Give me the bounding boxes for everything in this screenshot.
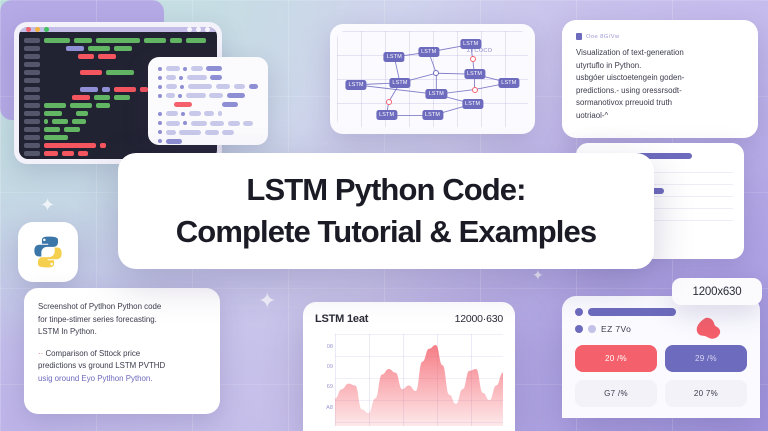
stat-button[interactable]: 20 /% [575,345,657,372]
snippet-line [158,84,258,89]
og-image-canvas: ✦ ✦ ✦ ΣTCOCO LSTMLSTMLSTMLSTMLSTMLSTMLST… [0,0,768,431]
code-token [114,46,132,51]
code-snippet-card [148,57,268,145]
document-icon [576,33,582,40]
code-token [114,95,130,100]
code-token [64,127,80,132]
snippet-token [186,93,206,98]
diagram-node: LSTM [376,110,397,120]
snippet-token [166,111,178,116]
code-token [96,103,110,108]
legend-dot-icon [588,325,596,333]
snippet-token [210,121,224,126]
snippet-token [187,75,207,80]
sparkle-icon: ✦ [258,290,276,312]
snippet-token [234,84,245,89]
diagram-open-node [472,87,478,93]
code-token [44,119,48,124]
snippet-line [158,102,258,107]
chart-y-tick: 69 [327,384,333,390]
code-line [24,46,212,51]
diagram-open-node [470,56,476,62]
chart-plot-area [335,334,503,426]
code-token [88,46,110,51]
chart-y-tick: A8 [326,405,333,411]
diagram-node: LSTM [418,47,439,57]
body-line: usig oround Eyo Pytlhon Python. [38,373,206,386]
bullet-icon [183,121,187,125]
diagram-node: LSTM [460,39,481,49]
snippet-token [166,75,176,80]
line-number-bar [24,87,40,92]
code-token [44,111,62,116]
diagram-node: LSTM [462,99,483,109]
code-token [66,46,84,51]
diagram-node: LSTM [426,89,447,99]
blob-decoration-icon [694,317,724,343]
body-line: usbgóer uisctoetengein goden- [576,72,744,85]
chart-title: LSTM 1eat [315,313,368,325]
snippet-token [243,121,253,126]
code-token [102,87,110,92]
line-number-bar [24,103,40,108]
snippet-line [158,121,258,126]
lstm-network-diagram-card: ΣTCOCO LSTMLSTMLSTMLSTMLSTMLSTMLSTMLSTML… [330,24,535,134]
title-card: LSTM Python Code: Complete Tutorial & Ex… [118,153,654,269]
diagram-node: LSTM [464,69,485,79]
snippet-token [218,111,222,116]
code-token [80,87,98,92]
kicker-text: Ooe 8G/Vw [586,34,620,40]
bullet-icon [158,130,162,134]
snippet-token [227,93,245,98]
code-token [62,151,74,156]
bullet-icon [158,85,162,89]
code-token [72,119,86,124]
code-token [78,54,94,59]
snippet-token [206,66,222,71]
bullet-icon [180,85,184,89]
body-line: for tinpe-stimer series forecasting. [38,314,206,327]
code-token [100,143,106,148]
code-token [98,54,116,59]
snippet-token [166,139,182,144]
stat-button[interactable]: 29 /% [665,345,747,372]
line-number-bar [24,119,40,124]
legend-dot-icon [575,325,583,333]
snippet-token [204,111,214,116]
snippet-token [222,102,238,107]
chart-meta: 12000·630 [455,313,503,325]
code-token [72,95,90,100]
snippet-line [158,139,258,144]
editor-menu-dots [187,27,210,32]
sparkle-icon: ✦ [40,196,55,214]
snippet-token [209,93,223,98]
diagram-plot: ΣTCOCO LSTMLSTMLSTMLSTMLSTMLSTMLSTMLSTML… [337,31,528,127]
body-line: LSTM In Python. [38,326,206,339]
body-line: Screenshot of Pytlhon Python code [38,301,206,314]
line-number-bar [24,78,40,83]
stat-button[interactable]: G7 /% [575,380,657,407]
code-token [44,151,58,156]
text-card-topright: Ooe 8G/Vw Visualization of text-generati… [562,20,758,138]
snippet-token [205,130,219,135]
body-line: uotriaol-^ [576,110,744,123]
bullet-icon [179,76,183,80]
code-token [44,127,60,132]
code-token [144,38,166,43]
code-token [96,38,140,43]
bullet-icon [158,94,162,98]
bullet-icon: ·· [38,349,43,358]
python-icon [29,233,67,271]
line-number-bar [24,143,40,148]
chart-y-axis: 080969A8 [315,334,335,426]
snippet-line [158,66,258,71]
bullet-icon [158,67,162,71]
snippet-token [166,84,177,89]
snippet-token [188,84,212,89]
line-number-bar [24,38,40,43]
line-number-bar [24,46,40,51]
chart-y-tick: 08 [327,344,333,350]
stats-title-row [575,308,747,316]
snippet-token [191,121,207,126]
dimension-badge: 1200x630 [672,278,762,305]
snippet-token [210,75,222,80]
chart-card: LSTM 1eat 12000·630 080969A8 [303,302,515,431]
status-dot-icon [575,308,583,316]
stats-card: EZ 7Vo 20 /%29 /%G7 /%20 7% [562,296,760,418]
code-token [94,95,110,100]
line-number-bar [24,95,40,100]
bullet-icon [158,112,162,116]
stat-button[interactable]: 20 7% [665,380,747,407]
line-number-bar [24,135,40,140]
code-token [76,111,88,116]
code-token [106,70,134,75]
snippet-line [158,130,258,135]
code-token [44,38,70,43]
text-card-bottomleft: Screenshot of Pytlhon Python code for ti… [24,288,220,414]
code-token [78,151,88,156]
code-token [44,143,96,148]
snippet-token [166,66,180,71]
chart-area-series [335,334,503,426]
code-token [52,119,68,124]
code-token [74,38,92,43]
code-token [44,103,66,108]
snippet-token [166,130,176,135]
snippet-token [228,121,240,126]
line-number-bar [24,151,40,156]
snippet-token [249,84,258,89]
code-line [24,38,212,43]
line-number-bar [24,54,40,59]
snippet-token [216,84,231,89]
line-number-bar [24,127,40,132]
stats-button-grid: 20 /%29 /%G7 /%20 7% [575,345,747,407]
snippet-token [189,111,201,116]
python-logo-card [18,222,78,282]
legend-label: EZ 7Vo [601,324,631,334]
body-line: predictions.- using oressrsodt- [576,85,744,98]
body-line: ·· Comparison of Sttock price [38,348,206,361]
bullet-icon [158,121,162,125]
diagram-node: LSTM [498,78,519,88]
code-token [140,87,148,92]
title-placeholder-bar [588,308,676,316]
snippet-token [166,93,175,98]
snippet-token [222,130,234,135]
code-token [186,38,206,43]
diagram-open-node [433,70,439,76]
bullet-icon [158,139,162,143]
chart-y-tick: 09 [327,364,333,370]
bullet-icon [178,94,182,98]
page-title-line2: Complete Tutorial & Examples [176,212,596,252]
line-number-bar [24,70,40,75]
line-number-bar [24,62,40,67]
code-token [170,38,182,43]
diagram-node: LSTM [346,80,367,90]
chart-body: 080969A8 [315,334,503,426]
diagram-node: LSTM [422,110,443,120]
line-number-bar [24,111,40,116]
snippet-token [166,121,180,126]
snippet-token [179,130,201,135]
body-line: utyrtuflo in Python. [576,60,744,73]
card-kicker-row: Ooe 8G/Vw [576,33,744,40]
code-token [114,87,136,92]
diagram-node: LSTM [389,78,410,88]
body-line: predictions vs ground LSTM PVTHD [38,360,206,373]
snippet-line [158,111,258,116]
diagram-node: LSTM [384,52,405,62]
snippet-token [174,102,192,107]
page-title-line1: LSTM Python Code: [246,170,525,210]
code-token [44,135,68,140]
bullet-icon [181,112,185,116]
snippet-line [158,93,258,98]
body-line: sormanotivox prreuoid truth [576,97,744,110]
bullet-icon [183,67,187,71]
sparkle-icon: ✦ [532,268,544,282]
snippet-line [158,75,258,80]
code-token [80,70,102,75]
code-token [70,103,92,108]
body-line: Visualization of text-generation [576,47,744,60]
chart-header: LSTM 1eat 12000·630 [315,313,503,325]
diagram-open-node [386,99,392,105]
snippet-token [191,66,203,71]
paragraph-spacer [38,339,206,348]
bullet-icon [158,76,162,80]
